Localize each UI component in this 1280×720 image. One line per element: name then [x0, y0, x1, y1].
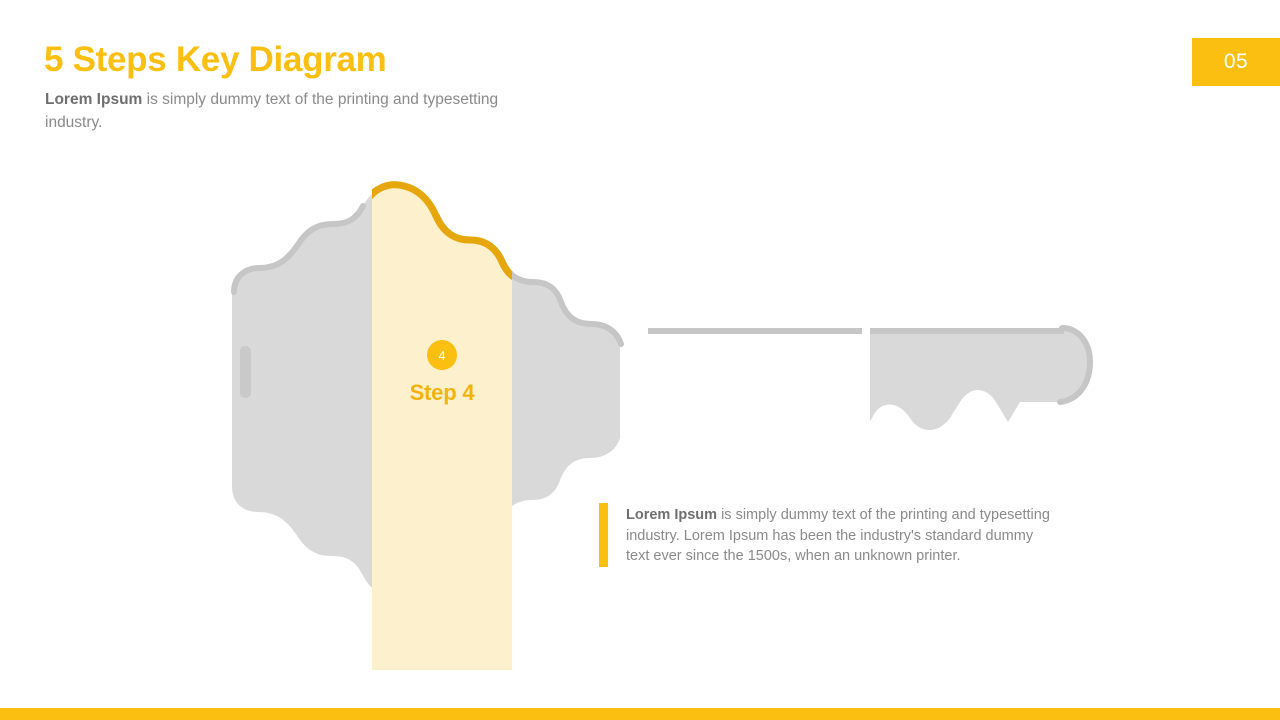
keyhole-slot-icon	[240, 346, 251, 398]
page-title: 5 Steps Key Diagram	[44, 40, 387, 80]
step-description-lead: Lorem Ipsum	[626, 507, 717, 523]
footer-accent-bar	[0, 708, 1280, 720]
page-number-badge: 05	[1192, 38, 1280, 86]
slide-canvas: 5 Steps Key Diagram Lorem Ipsum is simpl…	[0, 0, 1280, 720]
active-step-label-group: 4 Step 4	[372, 340, 512, 406]
page-subtitle: Lorem Ipsum is simply dummy text of the …	[45, 88, 515, 134]
description-accent-bar	[599, 503, 608, 567]
step-title: Step 4	[372, 380, 512, 406]
page-subtitle-lead: Lorem Ipsum	[45, 91, 142, 108]
active-step-band-body	[372, 268, 512, 590]
step-number-bullet: 4	[427, 340, 457, 370]
page-number-text: 05	[1224, 50, 1248, 74]
step-description-block: Lorem Ipsum is simply dummy text of the …	[599, 503, 1059, 567]
step-description-text: Lorem Ipsum is simply dummy text of the …	[626, 503, 1059, 567]
key-segment-dividers	[640, 318, 870, 448]
